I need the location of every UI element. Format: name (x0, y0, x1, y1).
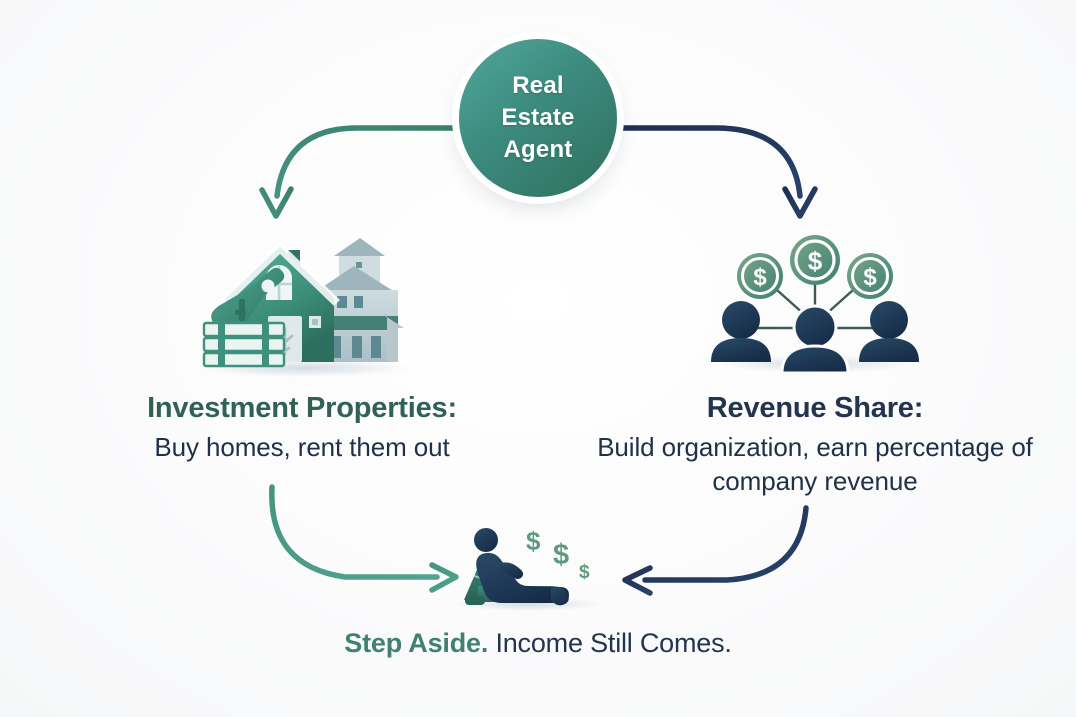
person-left (711, 301, 771, 362)
branch-description-revenue-share: Build organization, earn percentage of c… (570, 431, 1060, 499)
branch-title-revenue-share: Revenue Share: (570, 392, 1060, 425)
branch-revenue-share[interactable]: $ $ $ (570, 228, 1060, 499)
money-symbol-large: $ (526, 526, 541, 556)
svg-text:$: $ (753, 264, 767, 291)
house-with-key-icon (182, 228, 422, 378)
coin-center: $ (790, 235, 840, 285)
diagram-canvas: Real Estate Agent (0, 0, 1076, 717)
center-node-real-estate-agent[interactable]: Real Estate Agent (459, 39, 617, 197)
arrow-center-to-revenue (621, 128, 815, 216)
branch-description-investment-properties: Buy homes, rent them out (60, 431, 544, 465)
person-relaxing-lounge-chair-icon: $ $ $ (448, 520, 628, 612)
outcome-passive-income[interactable]: $ $ $ Step Aside. Income Still Comes. (288, 520, 788, 659)
coin-right: $ (847, 253, 893, 299)
outcome-art: $ $ $ (288, 520, 788, 612)
branch-title-investment-properties: Investment Properties: (60, 392, 544, 425)
center-node-label: Real Estate Agent (501, 70, 574, 165)
branch-investment-properties[interactable]: Investment Properties: Buy homes, rent t… (60, 228, 544, 465)
person-right (859, 301, 919, 362)
outcome-caption-lead: Step Aside. (344, 628, 488, 658)
money-symbol-small: $ (579, 562, 590, 583)
person-center (782, 306, 848, 373)
branch-art-left (60, 228, 544, 378)
svg-text:$: $ (808, 246, 823, 276)
coin-left: $ (737, 253, 783, 299)
money-symbol-medium: $ (553, 539, 569, 571)
outcome-caption-tail: Income Still Comes. (495, 628, 731, 658)
branch-art-right: $ $ $ (570, 228, 1060, 378)
arrow-center-to-investment (262, 128, 455, 216)
svg-text:$: $ (863, 264, 877, 291)
outcome-caption: Step Aside. Income Still Comes. (288, 628, 788, 659)
people-network-money-icon: $ $ $ (705, 228, 925, 378)
